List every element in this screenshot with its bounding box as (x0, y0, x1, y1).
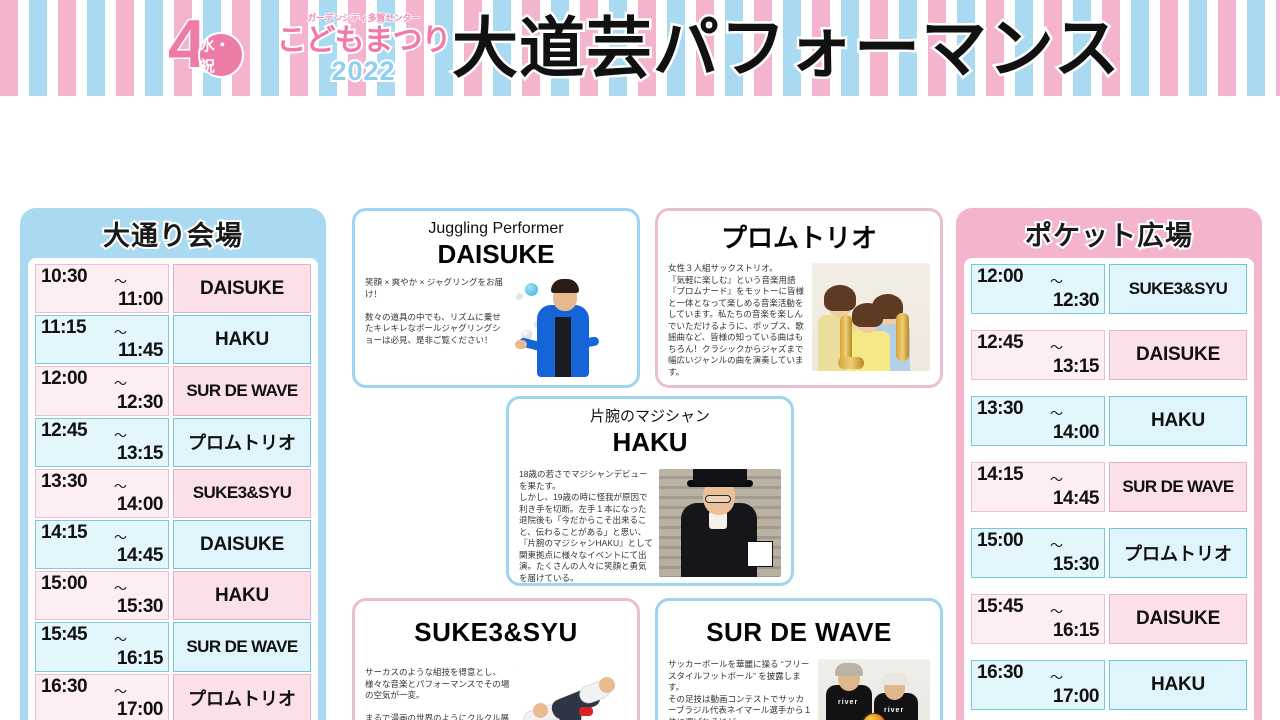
performer-cell: DAISUKE (1109, 594, 1247, 644)
performer-name: プロムトリオ (188, 685, 296, 711)
time-start: 14:15 (977, 464, 1023, 486)
table-row[interactable]: 13:30 〜 14:00 SUKE3&SYU (35, 469, 311, 518)
schedule-panel-odori: 大通り会場 10:30 〜 11:00 DAISUKE 11:15 〜 (20, 208, 326, 720)
time-end: 12:30 (1053, 290, 1099, 312)
performer-name: HAKU (1151, 410, 1205, 432)
card-title: プロムトリオ (668, 223, 930, 253)
time-start: 11:15 (41, 317, 86, 339)
table-row[interactable]: 12:00 〜 12:30 SUKE3&SYU (971, 264, 1247, 314)
performer-name: HAKU (215, 329, 269, 351)
time-cell: 15:00 〜 15:30 (35, 571, 169, 620)
performer-name: SUKE3&SYU (1129, 279, 1228, 299)
table-row[interactable]: 12:45 〜 13:15 DAISUKE (971, 330, 1247, 380)
performer-card-suke3-syu: SUKE3&SYU サーカスのような組技を得意とし、様々な音楽とパフォーマンスで… (352, 598, 640, 720)
performer-name: DAISUKE (200, 278, 284, 300)
schedule-rows-pocket: 12:00 〜 12:30 SUKE3&SYU 12:45 〜 13:15 (964, 258, 1254, 720)
time-cell: 11:15 〜 11:45 (35, 315, 169, 364)
time-separator: 〜 (114, 322, 127, 341)
table-row[interactable]: 15:45 〜 16:15 SUR DE WAVE (35, 622, 311, 671)
time-end: 14:45 (1053, 488, 1099, 510)
poster-header: 4 水・祝 ガーデンシティ多賀センター こどもまつり 2022 大道芸パフォーマ… (0, 0, 1280, 96)
time-start: 12:45 (977, 332, 1023, 354)
time-cell: 12:00 〜 12:30 (35, 366, 169, 415)
performer-cell: プロムトリオ (173, 674, 311, 720)
performer-photo-promo-trio (812, 263, 930, 371)
time-separator: 〜 (114, 271, 127, 290)
card-subtitle: Juggling Performer (365, 219, 627, 239)
table-row[interactable]: 15:00 〜 15:30 プロムトリオ (971, 528, 1247, 578)
time-cell: 14:15 〜 14:45 (971, 462, 1105, 512)
card-description: サーカスのような組技を得意とし、様々な音楽とパフォーマンスでその場の空気が一変。… (365, 667, 511, 720)
performer-cell: HAKU (1109, 660, 1247, 710)
time-cell: 16:30 〜 17:00 (971, 660, 1105, 710)
card-title: SUKE3&SYU (365, 617, 627, 647)
time-cell: 15:45 〜 16:15 (971, 594, 1105, 644)
time-start: 12:00 (977, 266, 1023, 288)
time-separator: 〜 (114, 527, 127, 546)
time-cell: 10:30 〜 11:00 (35, 264, 169, 313)
performer-name: プロムトリオ (188, 429, 296, 455)
table-row[interactable]: 12:00 〜 12:30 SUR DE WAVE (35, 366, 311, 415)
time-separator: 〜 (1050, 337, 1063, 356)
logo-main-text: こどもまつり (277, 24, 451, 57)
table-row[interactable]: 12:45 〜 13:15 プロムトリオ (35, 418, 311, 467)
event-date-badge: 水・祝 (198, 32, 244, 78)
time-start: 15:45 (41, 624, 87, 646)
time-start: 14:15 (41, 522, 87, 544)
performer-name: SUR DE WAVE (186, 637, 297, 657)
page-title: 大道芸パフォーマンス (452, 4, 1121, 92)
performer-cell: SUKE3&SYU (173, 469, 311, 518)
performer-photo-haku (659, 469, 781, 577)
performer-name: DAISUKE (200, 534, 284, 556)
time-end: 12:30 (117, 392, 163, 414)
time-end: 14:45 (117, 545, 163, 567)
schedule-panel-pocket: ポケット広場 12:00 〜 12:30 SUKE3&SYU 12:45 (956, 208, 1262, 720)
performer-name: プロムトリオ (1124, 540, 1232, 566)
time-separator: 〜 (114, 578, 127, 597)
performer-name: DAISUKE (1136, 608, 1220, 630)
time-start: 15:00 (41, 573, 87, 595)
time-end: 11:00 (118, 289, 163, 311)
table-row[interactable]: 15:00 〜 15:30 HAKU (35, 571, 311, 620)
schedule-title-pocket: ポケット広場 (964, 216, 1254, 258)
card-title: SUR DE WAVE (668, 617, 930, 647)
time-separator: 〜 (1050, 469, 1063, 488)
card-description: サッカーボールを華麗に操る “フリースタイルフットボール” を披露します。 その… (668, 659, 812, 720)
performer-cell: HAKU (1109, 396, 1247, 446)
time-end: 15:30 (1053, 554, 1099, 576)
performer-cell: HAKU (173, 315, 311, 364)
time-separator: 〜 (114, 629, 127, 648)
card-subtitle: 片腕のマジシャン (519, 407, 781, 427)
event-date-number: 4 (168, 6, 204, 82)
card-title: DAISUKE (365, 239, 627, 269)
performer-name: HAKU (1151, 674, 1205, 696)
time-separator: 〜 (1050, 667, 1063, 686)
time-end: 17:00 (1053, 686, 1099, 708)
logo-year: 2022 (331, 57, 395, 85)
table-row[interactable]: 13:30 〜 14:00 HAKU (971, 396, 1247, 446)
time-start: 16:30 (41, 676, 87, 698)
time-separator: 〜 (1050, 601, 1063, 620)
time-end: 15:30 (117, 596, 163, 618)
performer-cell: DAISUKE (1109, 330, 1247, 380)
time-end: 13:15 (1053, 356, 1099, 378)
table-row[interactable]: 15:45 〜 16:15 DAISUKE (971, 594, 1247, 644)
poster-content: 大通り会場 10:30 〜 11:00 DAISUKE 11:15 〜 (0, 96, 1280, 720)
card-description: 女性３人組サックストリオ。 『気軽に楽しむ』という音楽用語『プロムナード』をモッ… (668, 263, 806, 378)
time-cell: 13:30 〜 14:00 (971, 396, 1105, 446)
table-row[interactable]: 14:15 〜 14:45 DAISUKE (35, 520, 311, 569)
time-separator: 〜 (1050, 403, 1063, 422)
time-start: 10:30 (41, 266, 87, 288)
time-cell: 15:45 〜 16:15 (35, 622, 169, 671)
time-end: 14:00 (1053, 422, 1099, 444)
performer-name: HAKU (215, 585, 269, 607)
card-title: HAKU (519, 427, 781, 457)
time-end: 17:00 (117, 699, 163, 720)
card-description: 18歳の若さでマジシャンデビューを果たす。 しかし、19歳の時に怪我が原因で利き… (519, 469, 653, 584)
event-logo: ガーデンシティ多賀センター こどもまつり 2022 (281, 8, 446, 88)
time-end: 16:15 (1053, 620, 1099, 642)
time-cell: 13:30 〜 14:00 (35, 469, 169, 518)
performer-photo-suke3-syu (517, 667, 627, 720)
time-end: 11:45 (118, 340, 163, 362)
time-cell: 12:45 〜 13:15 (35, 418, 169, 467)
performer-name: SUR DE WAVE (186, 381, 297, 401)
card-description: 笑顔 × 爽やか × ジャグリングをお届け！ 数々の道具の中でも、リズムに乗せた… (365, 277, 509, 377)
table-row[interactable]: 10:30 〜 11:00 DAISUKE (35, 264, 311, 313)
table-row[interactable]: 14:15 〜 14:45 SUR DE WAVE (971, 462, 1247, 512)
performer-cell: SUKE3&SYU (1109, 264, 1247, 314)
poster-root: 4 水・祝 ガーデンシティ多賀センター こどもまつり 2022 大道芸パフォーマ… (0, 0, 1280, 720)
time-start: 13:30 (41, 471, 87, 493)
performer-card-sur-de-wave: SUR DE WAVE サッカーボールを華麗に操る “フリースタイルフットボール… (655, 598, 943, 720)
time-start: 13:30 (977, 398, 1023, 420)
logo-supertitle: ガーデンシティ多賀センター (307, 11, 420, 24)
time-cell: 16:30 〜 17:00 (35, 674, 169, 720)
time-start: 12:00 (41, 368, 87, 390)
performer-card-promo-trio: プロムトリオ 女性３人組サックストリオ。 『気軽に楽しむ』という音楽用語『プロム… (655, 208, 943, 388)
performer-cell: SUR DE WAVE (173, 622, 311, 671)
performer-card-daisuke: Juggling Performer DAISUKE 笑顔 × 爽やか × ジャ… (352, 208, 640, 388)
performer-photo-daisuke (515, 277, 627, 377)
performer-cell: SUR DE WAVE (1109, 462, 1247, 512)
time-cell: 12:45 〜 13:15 (971, 330, 1105, 380)
time-cell: 15:00 〜 15:30 (971, 528, 1105, 578)
performer-name: SUR DE WAVE (1122, 477, 1233, 497)
schedule-title-odori: 大通り会場 (28, 216, 318, 258)
performer-card-haku: 片腕のマジシャン HAKU 18歳の若さでマジシャンデビューを果たす。 しかし、… (506, 396, 794, 586)
time-end: 14:00 (117, 494, 163, 516)
performer-photo-sur-de-wave: river river (818, 659, 930, 720)
performer-cell: HAKU (173, 571, 311, 620)
table-row[interactable]: 11:15 〜 11:45 HAKU (35, 315, 311, 364)
performer-name: DAISUKE (1136, 344, 1220, 366)
time-separator: 〜 (114, 373, 127, 392)
schedule-rows-odori: 10:30 〜 11:00 DAISUKE 11:15 〜 11:45 (28, 258, 318, 720)
time-start: 15:45 (977, 596, 1023, 618)
time-start: 12:45 (41, 420, 87, 442)
time-separator: 〜 (1050, 535, 1063, 554)
performer-cell: プロムトリオ (173, 418, 311, 467)
table-row[interactable]: 16:30 〜 17:00 プロムトリオ (35, 674, 311, 720)
event-date-block: 4 水・祝 (168, 6, 244, 82)
time-separator: 〜 (114, 476, 127, 495)
time-separator: 〜 (1050, 271, 1063, 290)
time-start: 15:00 (977, 530, 1023, 552)
time-cell: 12:00 〜 12:30 (971, 264, 1105, 314)
time-end: 16:15 (117, 648, 163, 670)
time-cell: 14:15 〜 14:45 (35, 520, 169, 569)
performer-cell: プロムトリオ (1109, 528, 1247, 578)
table-row[interactable]: 16:30 〜 17:00 HAKU (971, 660, 1247, 710)
time-separator: 〜 (114, 425, 127, 444)
time-start: 16:30 (977, 662, 1023, 684)
performer-cell: SUR DE WAVE (173, 366, 311, 415)
performer-cell: DAISUKE (173, 264, 311, 313)
performer-cell: DAISUKE (173, 520, 311, 569)
time-end: 13:15 (117, 443, 163, 465)
time-separator: 〜 (114, 681, 127, 700)
performer-name: SUKE3&SYU (193, 483, 292, 503)
